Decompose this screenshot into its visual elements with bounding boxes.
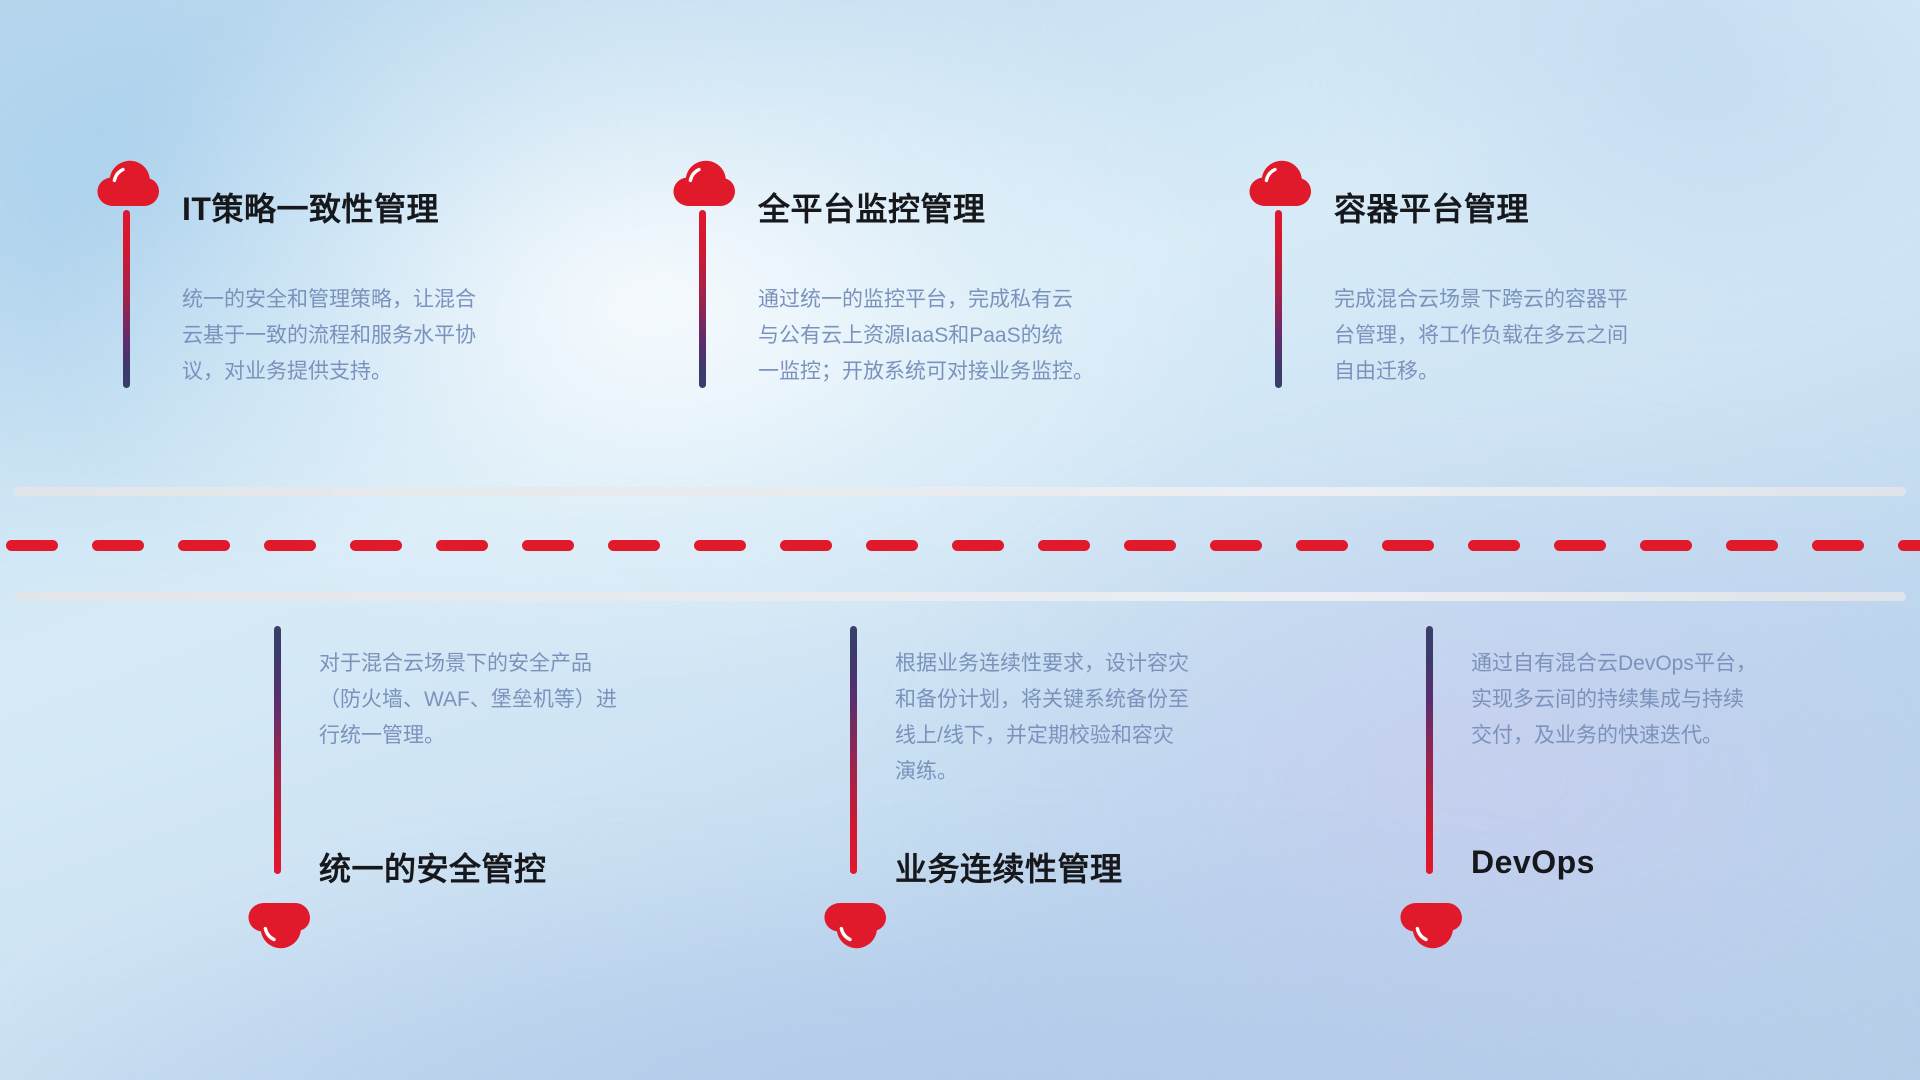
card-body: 对于混合云场景下的安全产品 （防火墙、WAF、堡垒机等）进 行统一管理。 bbox=[319, 646, 669, 754]
cloud-icon bbox=[1399, 901, 1463, 949]
connector-stem bbox=[1275, 210, 1282, 388]
body-line: 对于混合云场景下的安全产品 bbox=[319, 646, 669, 682]
cloud-icon bbox=[96, 160, 160, 208]
card-title: IT策略一致性管理 bbox=[182, 184, 439, 230]
body-line: 通过统一的监控平台，完成私有云 bbox=[758, 282, 1108, 318]
body-line: 议，对业务提供支持。 bbox=[182, 354, 532, 390]
body-line: 自由迁移。 bbox=[1334, 354, 1684, 390]
card-title: DevOps bbox=[1471, 844, 1595, 881]
body-line: 与公有云上资源IaaS和PaaS的统 bbox=[758, 318, 1108, 354]
card-body: 完成混合云场景下跨云的容器平 台管理，将工作负载在多云之间 自由迁移。 bbox=[1334, 282, 1684, 390]
card-title: 统一的安全管控 bbox=[319, 844, 547, 890]
cloud-icon bbox=[1248, 160, 1312, 208]
connector-stem bbox=[1426, 626, 1433, 874]
card-body: 通过自有混合云DevOps平台， 实现多云间的持续集成与持续 交付，及业务的快速… bbox=[1471, 646, 1821, 754]
connector-stem bbox=[123, 210, 130, 388]
body-line: 统一的安全和管理策略，让混合 bbox=[182, 282, 532, 318]
body-line: 实现多云间的持续集成与持续 bbox=[1471, 682, 1821, 718]
card-title: 业务连续性管理 bbox=[895, 844, 1123, 890]
body-line: 演练。 bbox=[895, 754, 1245, 790]
connector-stem bbox=[699, 210, 706, 388]
connector-stem bbox=[850, 626, 857, 874]
body-line: （防火墙、WAF、堡垒机等）进 bbox=[319, 682, 669, 718]
card-title: 全平台监控管理 bbox=[758, 184, 986, 230]
card-body: 根据业务连续性要求，设计容灾 和备份计划，将关键系统备份至 线上/线下，并定期校… bbox=[895, 646, 1245, 790]
connector-stem bbox=[274, 626, 281, 874]
card-body: 统一的安全和管理策略，让混合 云基于一致的流程和服务水平协 议，对业务提供支持。 bbox=[182, 282, 532, 390]
body-line: 和备份计划，将关键系统备份至 bbox=[895, 682, 1245, 718]
body-line: 交付，及业务的快速迭代。 bbox=[1471, 718, 1821, 754]
body-line: 根据业务连续性要求，设计容灾 bbox=[895, 646, 1245, 682]
cloud-icon bbox=[672, 160, 736, 208]
body-line: 行统一管理。 bbox=[319, 718, 669, 754]
cloud-icon bbox=[823, 901, 887, 949]
cloud-icon bbox=[247, 901, 311, 949]
body-line: 云基于一致的流程和服务水平协 bbox=[182, 318, 532, 354]
body-line: 线上/线下，并定期校验和容灾 bbox=[895, 718, 1245, 754]
card-body: 通过统一的监控平台，完成私有云 与公有云上资源IaaS和PaaS的统 一监控；开… bbox=[758, 282, 1108, 390]
body-line: 通过自有混合云DevOps平台， bbox=[1471, 646, 1821, 682]
card-title: 容器平台管理 bbox=[1334, 184, 1529, 230]
body-line: 一监控；开放系统可对接业务监控。 bbox=[758, 354, 1108, 390]
body-line: 完成混合云场景下跨云的容器平 bbox=[1334, 282, 1684, 318]
body-line: 台管理，将工作负载在多云之间 bbox=[1334, 318, 1684, 354]
